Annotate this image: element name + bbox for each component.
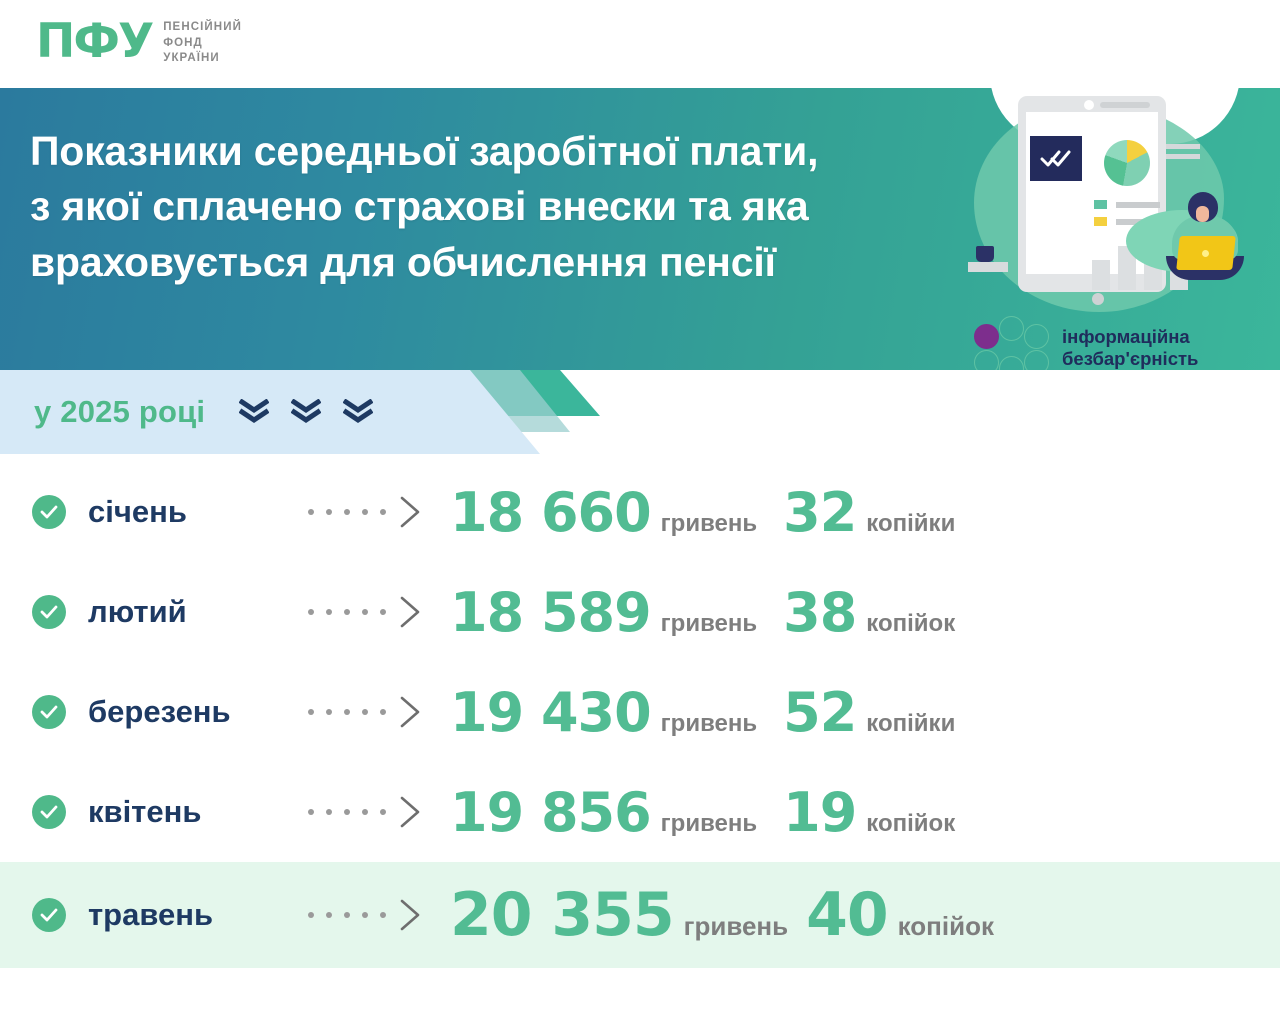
month-label: березень [88, 694, 308, 730]
dotted-arrow-icon [308, 695, 436, 729]
year-label: у 2025 році [34, 394, 205, 430]
dotted-arrow-icon [308, 495, 436, 529]
arrow-dot [344, 709, 350, 715]
arrow-dot [326, 809, 332, 815]
kopiyka-unit-label: копійок [866, 610, 955, 638]
dot-outline [1024, 324, 1049, 349]
month-label: квітень [88, 794, 308, 830]
person-face [1196, 206, 1209, 222]
hryvnia-unit-label: гривень [661, 510, 757, 538]
arrow-head-icon [398, 795, 424, 829]
kopiyka-amount: 19 [783, 781, 856, 844]
hryvnia-unit-label: гривень [661, 710, 757, 738]
month-label: травень [88, 897, 308, 933]
kopiyka-amount: 38 [783, 581, 856, 644]
pfu-logo-mark: ПФУ [36, 18, 152, 65]
amount-group: 18 589гривень38копійок [450, 581, 955, 644]
kopiyka-amount: 40 [806, 880, 888, 950]
amount-group: 18 660гривень32копійки [450, 481, 955, 544]
check-circle-icon [32, 595, 66, 629]
arrow-dot [362, 709, 368, 715]
dot-outline [974, 350, 999, 370]
header-banner: Показники середньої заробітної плати, з … [0, 88, 1280, 370]
arrow-head-icon [398, 695, 424, 729]
arrow-dot [308, 912, 314, 918]
amount-group: 20 355гривень40копійок [450, 880, 994, 950]
month-label: лютий [88, 594, 308, 630]
arrow-dot [362, 609, 368, 615]
pie-chart-icon [1104, 140, 1150, 186]
arrow-dot [380, 609, 386, 615]
accessibility-badge: інформаційна безбар'єрність [974, 316, 1198, 370]
kopiyka-unit-label: копійок [866, 810, 955, 838]
arrow-dot [344, 912, 350, 918]
table-row: січень18 660гривень32копійки [0, 462, 1280, 562]
hryvnia-unit-label: гривень [661, 610, 757, 638]
kopiyka-amount: 52 [783, 681, 856, 744]
dotted-arrow-icon [308, 898, 436, 932]
arrow-head-icon [398, 595, 424, 629]
arrow-dot [362, 912, 368, 918]
hryvnia-amount: 18 660 [450, 481, 651, 544]
person-with-laptop-illustration [1126, 192, 1248, 298]
amount-group: 19 430гривень52копійки [450, 681, 955, 744]
tablet-top-bar [1100, 102, 1150, 108]
double-check-badge-icon [1030, 136, 1082, 181]
check-circle-icon [32, 695, 66, 729]
laptop-screen-glow [1202, 250, 1209, 257]
arrow-head-icon [398, 495, 424, 529]
title-line-2: з якої сплачено страхові внески та яка [30, 179, 970, 234]
check-circle-icon [32, 795, 66, 829]
text-lines-group [1166, 144, 1200, 159]
hryvnia-amount: 19 856 [450, 781, 651, 844]
arrow-dot [344, 609, 350, 615]
accessibility-line-2: безбар'єрність [1062, 348, 1198, 370]
dotted-arrow-icon [308, 795, 436, 829]
amount-group: 19 856гривень19копійок [450, 781, 955, 844]
title-line-3: враховується для обчислення пенсії [30, 235, 970, 290]
text-line [1166, 154, 1200, 159]
year-band: у 2025 році [0, 370, 1280, 454]
arrow-dot [344, 509, 350, 515]
cup-icon [976, 246, 994, 262]
accessibility-line-1: інформаційна [1062, 326, 1198, 348]
arrow-dot [308, 609, 314, 615]
arrow-dot [380, 912, 386, 918]
pfu-logo: ПФУ ПЕНСІЙНИЙ ФОНД УКРАЇНИ [36, 18, 242, 66]
double-chevron-down-icon [291, 399, 321, 425]
page-title: Показники середньої заробітної плати, з … [30, 124, 970, 290]
table-row: травень20 355гривень40копійок [0, 862, 1280, 968]
kopiyka-unit-label: копійки [866, 710, 955, 738]
arrow-dot [362, 509, 368, 515]
year-band-content: у 2025 році [34, 370, 373, 454]
arrow-dot [308, 509, 314, 515]
dot-outline [999, 356, 1024, 370]
dashboard-illustration: інформаційна безбар'єрність [960, 88, 1280, 370]
logo-bar: ПФУ ПЕНСІЙНИЙ ФОНД УКРАЇНИ [0, 0, 1280, 88]
title-line-1: Показники середньої заробітної плати, [30, 124, 970, 179]
double-chevron-down-icon [343, 399, 373, 425]
arrow-dot [326, 912, 332, 918]
arrow-dot [326, 509, 332, 515]
table-row: квітень19 856гривень19копійок [0, 762, 1280, 862]
infographic-page: ПФУ ПЕНСІЙНИЙ ФОНД УКРАЇНИ Показники сер… [0, 0, 1280, 1024]
bar [1092, 260, 1110, 290]
hryvnia-unit-label: гривень [684, 911, 788, 942]
arrow-dot [308, 809, 314, 815]
double-chevron-down-icon [239, 399, 269, 425]
legend-swatch-green [1094, 200, 1107, 209]
kopiyka-amount: 32 [783, 481, 856, 544]
logo-line-2: ФОНД [163, 37, 242, 51]
kopiyka-unit-label: копійок [898, 911, 994, 942]
hryvnia-amount: 18 589 [450, 581, 651, 644]
arrow-dot [326, 609, 332, 615]
table-row: березень19 430гривень52копійки [0, 662, 1280, 762]
arrow-dot [326, 709, 332, 715]
salary-rows-list: січень18 660гривень32копійкилютий18 589г… [0, 462, 1280, 968]
accessibility-badge-text: інформаційна безбар'єрність [1062, 326, 1198, 370]
hryvnia-amount: 19 430 [450, 681, 651, 744]
dot-outline [1024, 350, 1049, 370]
tablet-camera-icon [1084, 100, 1094, 110]
chevron-group [239, 399, 373, 425]
arrow-dot [380, 809, 386, 815]
table-row: лютий18 589гривень38копійок [0, 562, 1280, 662]
hryvnia-amount: 20 355 [450, 880, 674, 950]
arrow-dot [308, 709, 314, 715]
pfu-logo-text: ПЕНСІЙНИЙ ФОНД УКРАЇНИ [163, 18, 242, 66]
hryvnia-unit-label: гривень [661, 810, 757, 838]
arrow-dot [344, 809, 350, 815]
accessibility-dots-icon [974, 316, 1050, 370]
arrow-dot [362, 809, 368, 815]
dotted-arrow-icon [308, 595, 436, 629]
tablet-home-button-icon [1092, 293, 1104, 305]
logo-line-3: УКРАЇНИ [163, 52, 242, 66]
dot-filled [974, 324, 999, 349]
dot-outline [999, 316, 1024, 341]
check-circle-icon [32, 495, 66, 529]
arrow-dot [380, 509, 386, 515]
logo-line-1: ПЕНСІЙНИЙ [163, 21, 242, 35]
arrow-dot [380, 709, 386, 715]
shelf-block [968, 262, 1008, 272]
text-line [1166, 144, 1200, 149]
arrow-head-icon [398, 898, 424, 932]
month-label: січень [88, 494, 308, 530]
check-circle-icon [32, 898, 66, 932]
kopiyka-unit-label: копійки [866, 510, 955, 538]
